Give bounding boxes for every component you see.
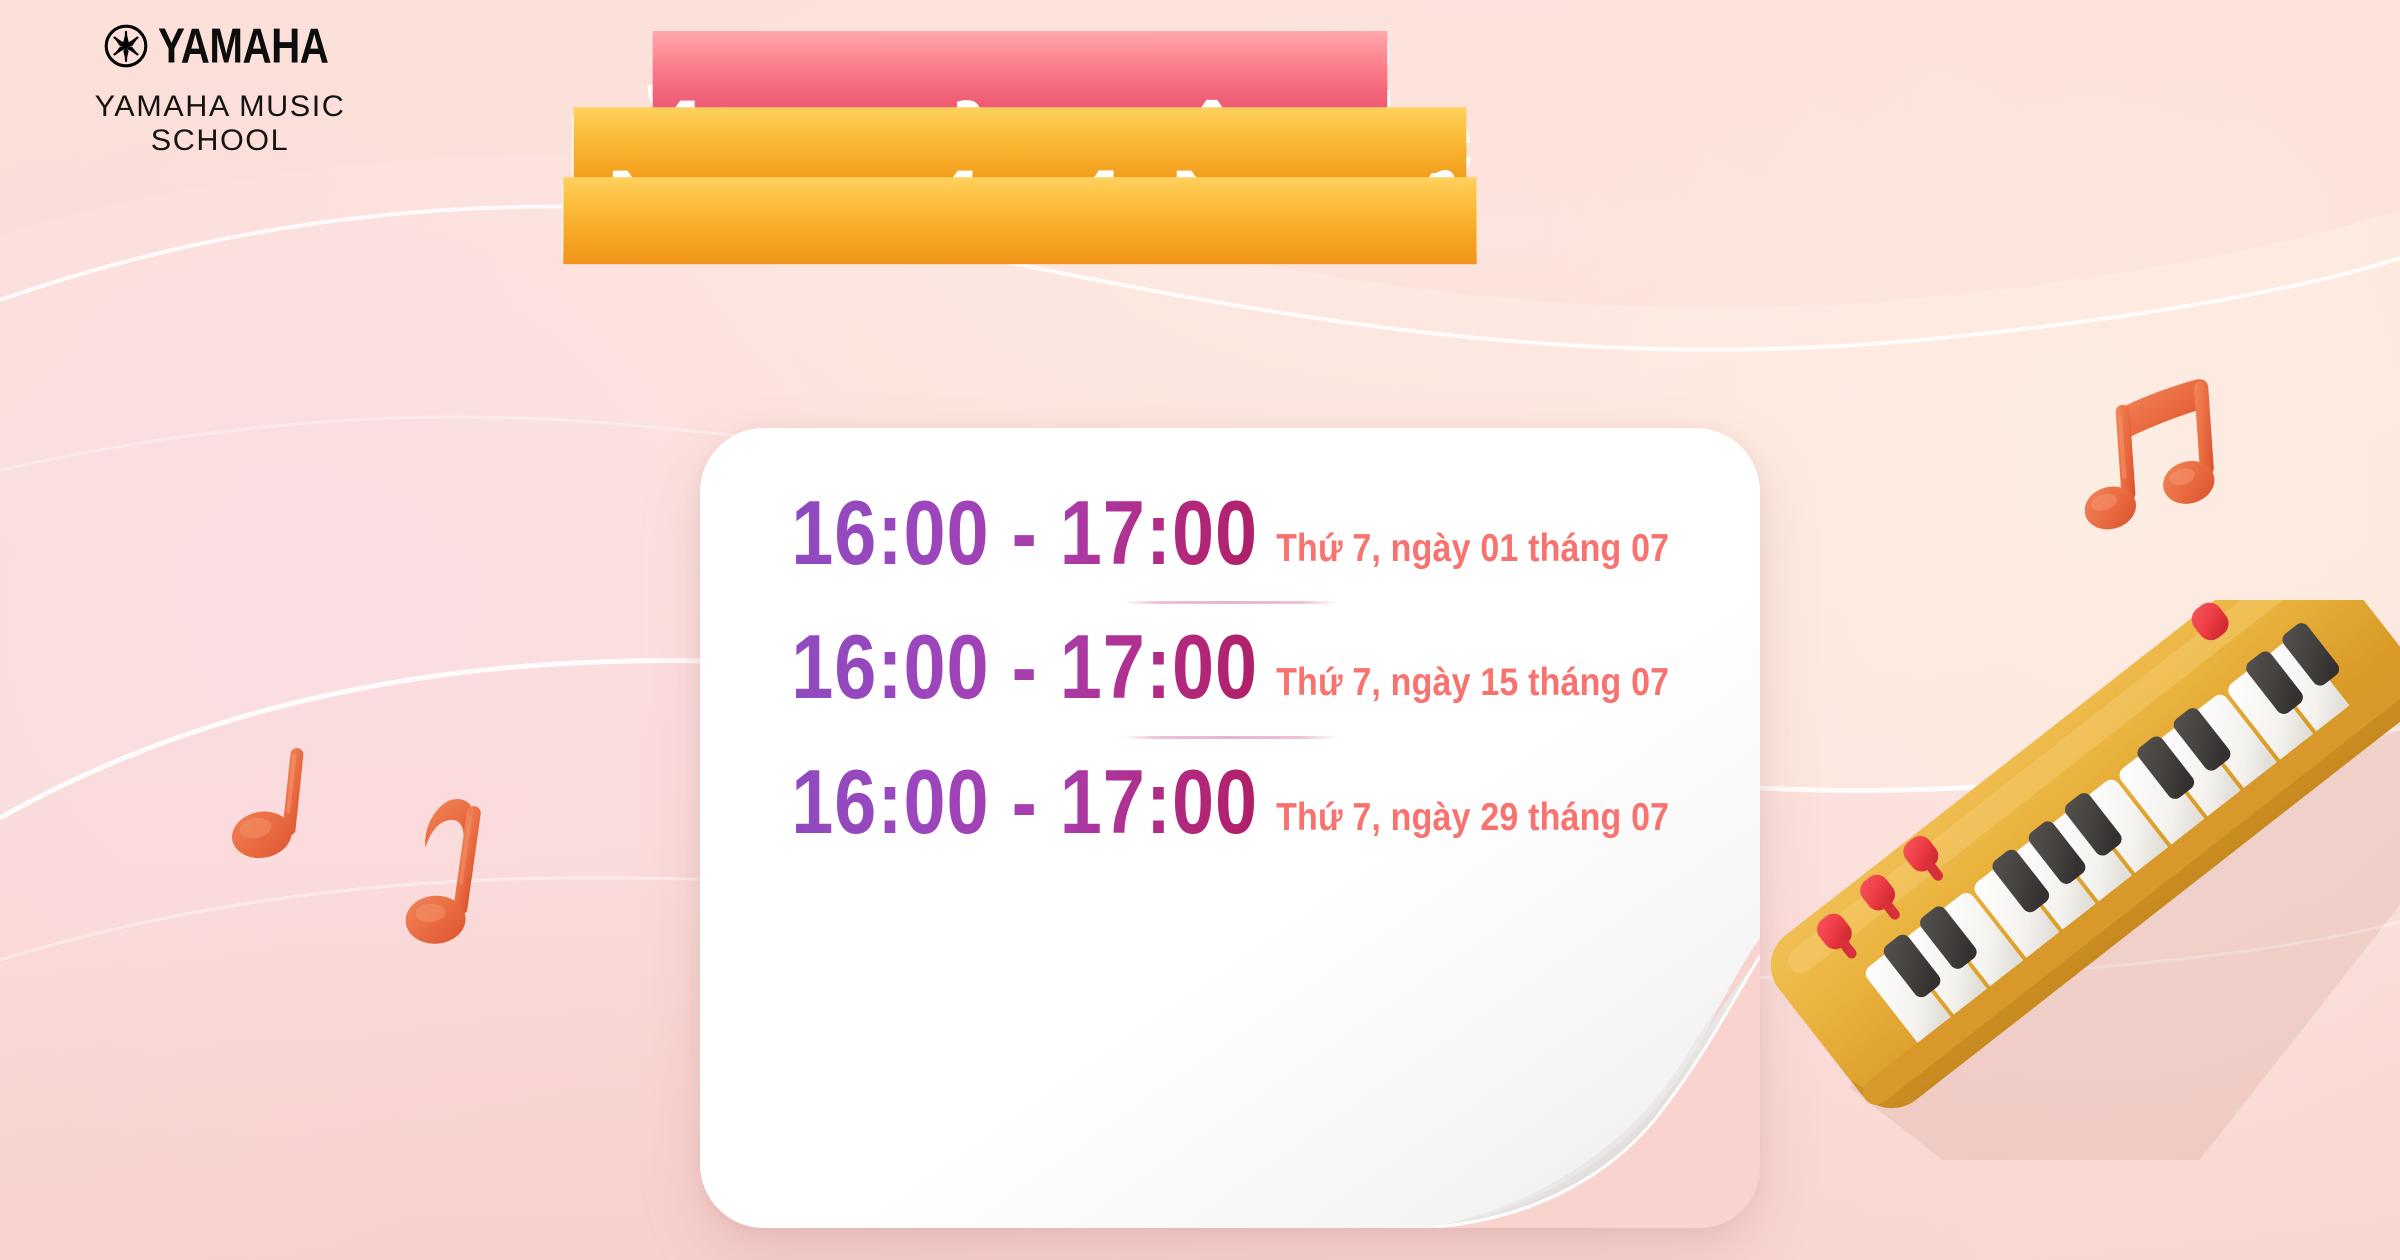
schedule-divider <box>1121 736 1339 739</box>
schedule-entry-date: Thứ 7, ngày 01 tháng 07 <box>1276 527 1669 571</box>
schedule-divider <box>1121 601 1339 604</box>
heading-line-3-fill: DÀNH CHO CÁC BÉ TỪ 4-6 TUỔI <box>564 177 1477 264</box>
schedule-entry-time: 16:00 - 17:00 <box>792 752 1259 853</box>
schedule-entry-time: 16:00 - 17:00 <box>792 483 1259 584</box>
poster-canvas: YAMAHA YAMAHA MUSIC SCHOOL JUNIOR MUSIC … <box>0 0 2400 1260</box>
brand-logo-block: YAMAHA YAMAHA MUSIC SCHOOL <box>40 24 400 158</box>
schedule-entry: 16:00 - 17:00 Thứ 7, ngày 15 tháng 07 <box>700 624 1760 711</box>
brand-wordmark: YAMAHA <box>158 21 328 71</box>
music-note-quarter-icon <box>230 740 320 870</box>
music-note-beamed-icon <box>2085 378 2245 538</box>
schedule-list: 16:00 - 17:00 Thứ 7, ngày 01 tháng 07 16… <box>700 490 1760 846</box>
music-note-eighth-icon <box>400 790 510 960</box>
schedule-entry-time: 16:00 - 17:00 <box>792 617 1259 718</box>
yamaha-tuning-fork-icon <box>104 24 148 68</box>
school-name: YAMAHA MUSIC SCHOOL <box>36 90 403 158</box>
schedule-entry: 16:00 - 17:00 Thứ 7, ngày 29 tháng 07 <box>700 759 1760 846</box>
heading-line-3: DÀNH CHO CÁC BÉ TỪ 4-6 TUỔI DÀNH CHO CÁC… <box>481 181 1560 261</box>
toy-keyboard-melodica-icon <box>1770 600 2400 1160</box>
schedule-entry: 16:00 - 17:00 Thứ 7, ngày 01 tháng 07 <box>700 490 1760 577</box>
schedule-entry-date: Thứ 7, ngày 15 tháng 07 <box>1276 661 1669 705</box>
schedule-entry-date: Thứ 7, ngày 29 tháng 07 <box>1276 796 1669 840</box>
logo-row: YAMAHA <box>40 24 400 68</box>
schedule-card: 16:00 - 17:00 Thứ 7, ngày 01 tháng 07 16… <box>700 428 1760 1228</box>
headings-block: JUNIOR MUSIC COURSE JUNIOR MUSIC COURSE … <box>440 36 1600 244</box>
